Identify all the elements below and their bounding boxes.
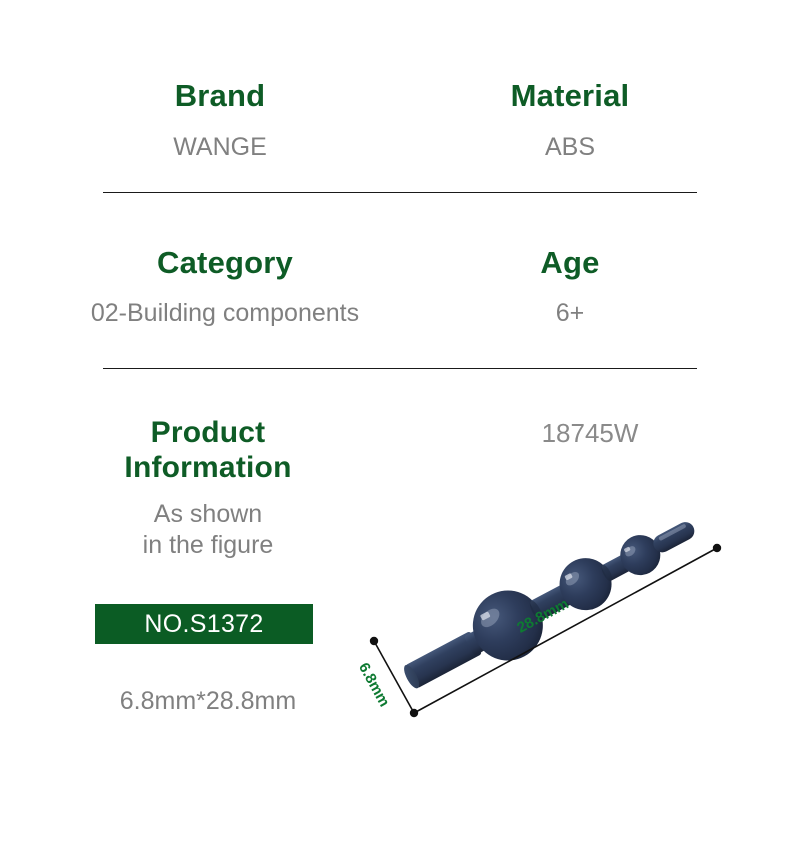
dimension-length-endpoint-end	[713, 544, 721, 552]
model-code: 18745W	[470, 417, 710, 449]
product-information-value-line2: in the figure	[48, 530, 368, 561]
part-number-badge: NO.S1372	[95, 604, 313, 644]
age-label: Age	[420, 245, 720, 281]
spec-field-brand: Brand WANGE	[60, 78, 380, 162]
category-value: 02-Building components	[45, 298, 405, 328]
category-label: Category	[45, 245, 405, 281]
product-information-value-line1: As shown	[48, 499, 368, 530]
material-value: ABS	[420, 132, 720, 162]
spec-field-age: Age 6+	[420, 245, 720, 328]
spec-field-product-information: Product Information As shown in the figu…	[48, 415, 368, 561]
spec-field-category: Category 02-Building components	[45, 245, 405, 328]
product-information-label: Product Information	[48, 415, 368, 485]
product-information-label-line1: Product	[48, 415, 368, 450]
product-size-text: 6.8mm*28.8mm	[48, 686, 368, 716]
dimension-width-label: 6.8mm	[355, 660, 393, 710]
material-label: Material	[420, 78, 720, 114]
age-value: 6+	[420, 298, 720, 328]
brand-value: WANGE	[60, 132, 380, 162]
divider-row-2	[103, 368, 697, 369]
product-spec-sheet: Brand WANGE Material ABS Category 02-Bui…	[0, 0, 800, 852]
brand-label: Brand	[60, 78, 380, 114]
dimension-width-endpoint-start	[370, 637, 378, 645]
tip-cylinder	[650, 519, 697, 556]
product-information-value: As shown in the figure	[48, 499, 368, 561]
spec-field-material: Material ABS	[420, 78, 720, 162]
divider-row-1	[103, 192, 697, 193]
product-information-label-line2: Information	[48, 450, 368, 485]
product-figure: 6.8mm 28.8mm	[340, 455, 740, 735]
